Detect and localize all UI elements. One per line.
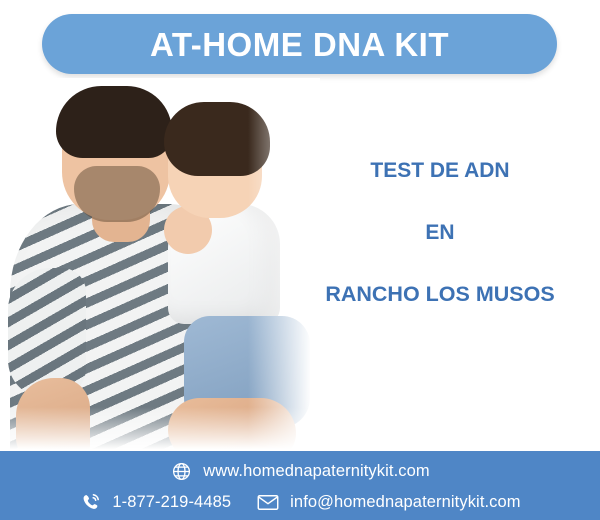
contact-phone[interactable]: 1-877-219-4485 (79, 491, 231, 513)
man-beard (74, 166, 160, 222)
globe-icon (170, 460, 192, 482)
photo-bottom-fade (0, 407, 320, 453)
page-title: AT-HOME DNA KIT (150, 28, 449, 61)
website-label: www.homednapaternitykit.com (203, 462, 429, 481)
man-hair (56, 86, 172, 158)
email-label: info@homednapaternitykit.com (290, 493, 521, 512)
headline-block: TEST DE ADN EN RANCHO LOS MUSOS (290, 160, 590, 306)
envelope-icon (257, 491, 279, 513)
footer-row-website: www.homednapaternitykit.com (0, 456, 600, 486)
footer-contact-bar: www.homednapaternitykit.com 1-877-219-44… (0, 451, 600, 520)
contact-email[interactable]: info@homednapaternitykit.com (257, 491, 521, 513)
promo-poster: AT-HOME DNA KIT TEST DE ADN EN RANCHO LO… (0, 0, 600, 520)
phone-label: 1-877-219-4485 (112, 493, 231, 512)
family-photo (0, 78, 320, 453)
footer-row-phone-email: 1-877-219-4485 info@homednapaternitykit.… (0, 487, 600, 517)
headline-line-2: EN (290, 222, 590, 243)
phone-icon (79, 491, 101, 513)
headline-line-3: RANCHO LOS MUSOS (290, 284, 590, 306)
contact-website[interactable]: www.homednapaternitykit.com (170, 460, 429, 482)
headline-line-1: TEST DE ADN (290, 160, 590, 181)
header-banner: AT-HOME DNA KIT (42, 14, 557, 74)
